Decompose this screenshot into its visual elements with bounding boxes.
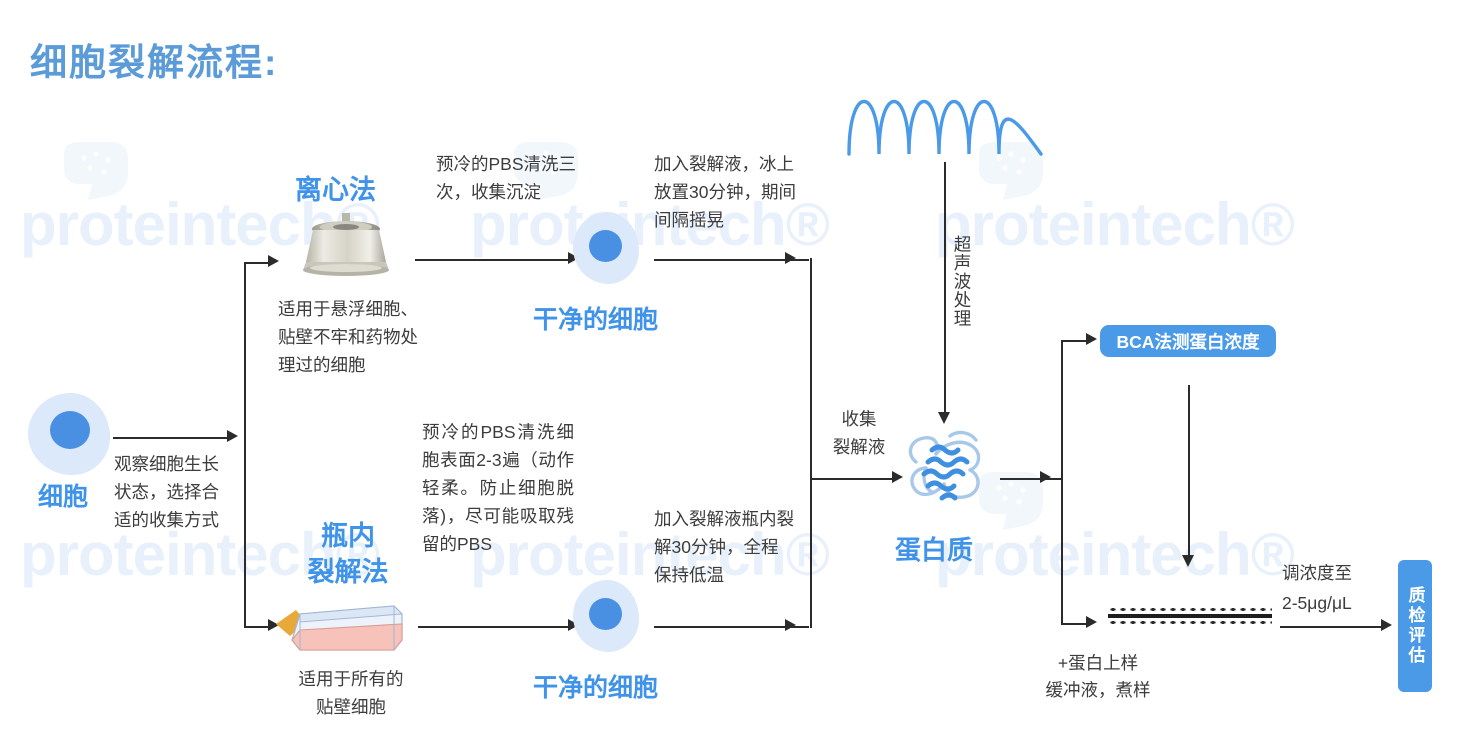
arrow-sonication — [944, 162, 946, 414]
arrow-merge-to-protein — [812, 478, 894, 480]
cell-label: 细胞 — [38, 477, 88, 513]
edge-label-centrifuge-to-clean: 预冷的PBS清洗三次，收集沉淀 — [436, 150, 586, 206]
edge-label-collect-lysate: 收集 裂解液 — [824, 405, 894, 461]
sonication-wave-icon — [845, 78, 1045, 160]
edge-label-flask-to-clean: 预冷的PBS清洗细胞表面2-3遍（动作轻柔。防止细胞脱落)，尽可能吸取残留的PB… — [422, 418, 574, 558]
collect-lysate-line1: 收集 — [824, 405, 894, 433]
sample-gel-icon — [1108, 607, 1272, 625]
arrowhead-icon — [1086, 333, 1097, 345]
sonication-label: 超声波处理 — [950, 235, 975, 365]
arrow-bca-to-gel — [1188, 385, 1190, 557]
arrow-cell-to-branch — [113, 437, 228, 439]
flask-caption: 适用于所有的 贴壁细胞 — [275, 665, 427, 721]
clean-cell-icon — [573, 212, 639, 284]
bca-assay-button[interactable]: BCA法测蛋白浓度 — [1100, 325, 1276, 357]
diagram-canvas: proteintech® proteintech® proteintech® p… — [0, 0, 1465, 750]
gel-dots-bottom — [1108, 620, 1272, 625]
adjust-conc-line2: 2-5μg/μL — [1282, 588, 1392, 618]
branch-down-stub — [244, 626, 270, 628]
branch-spine-left — [244, 262, 246, 626]
branch-up-stub-right — [1061, 340, 1089, 342]
culture-flask-icon — [274, 592, 406, 660]
gel-bar — [1108, 614, 1272, 618]
clean-cell-top-label: 干净的细胞 — [533, 300, 658, 336]
arrow-protein-to-branch — [1000, 478, 1062, 480]
flask-label-line1: 瓶内 — [298, 518, 398, 554]
gel-caption: +蛋白上样 缓冲液，煮样 — [1008, 650, 1188, 704]
flask-label-line2: 裂解法 — [298, 554, 398, 590]
arrow-centrifuge-to-clean — [415, 259, 570, 261]
arrowhead-icon — [938, 412, 950, 424]
flask-caption-line2: 贴壁细胞 — [275, 693, 427, 721]
cell-nucleus — [589, 230, 622, 262]
arrowhead-icon — [1040, 471, 1051, 483]
arrowhead-icon — [1086, 616, 1097, 628]
protein-label: 蛋白质 — [895, 530, 973, 567]
gel-dots-top — [1108, 607, 1272, 612]
centrifuge-rotor-icon — [290, 212, 402, 280]
clean-cell-bottom-label: 干净的细胞 — [533, 668, 658, 704]
watermark-superscript: ® — [1251, 191, 1294, 258]
gel-caption-line1: +蛋白上样 — [1008, 650, 1188, 677]
centrifuge-label: 离心法 — [295, 168, 376, 207]
branch-down-stub-right — [1061, 623, 1089, 625]
edge-label-clean-to-lysis-bottom: 加入裂解液瓶内裂解30分钟，全程保持低温 — [654, 505, 794, 589]
arrowhead-icon — [1182, 555, 1194, 567]
centrifuge-caption: 适用于悬浮细胞、贴壁不牢和药物处理过的细胞 — [278, 295, 426, 379]
merge-spine — [810, 258, 812, 628]
watermark-logo-icon — [58, 140, 132, 202]
adjust-conc-line1: 调浓度至 — [1282, 558, 1392, 588]
arrow-flask-to-clean — [418, 626, 570, 628]
protein-structure-icon — [898, 424, 994, 524]
branch-spine-right — [1061, 340, 1063, 623]
arrowhead-icon — [268, 255, 279, 267]
edge-label-adjust-concentration: 调浓度至 2-5μg/μL — [1282, 558, 1392, 618]
arrowhead-icon — [785, 252, 796, 264]
cell-nucleus — [50, 411, 90, 449]
clean-cell-icon — [573, 580, 639, 652]
arrowhead-icon — [785, 619, 796, 631]
edge-label-cell-to-branch: 观察细胞生长状态，选择合适的收集方式 — [114, 450, 234, 534]
arrow-gel-to-qc — [1280, 626, 1385, 628]
gel-caption-line2: 缓冲液，煮样 — [1008, 677, 1188, 704]
arrowhead-icon — [227, 430, 238, 442]
branch-up-stub — [244, 262, 270, 264]
page-title: 细胞裂解流程: — [30, 32, 278, 86]
collect-lysate-line2: 裂解液 — [824, 433, 894, 461]
qc-evaluation-button[interactable]: 质检评估 — [1398, 560, 1432, 692]
cell-icon — [28, 393, 110, 475]
flask-caption-line1: 适用于所有的 — [275, 665, 427, 693]
flask-label: 瓶内 裂解法 — [298, 518, 398, 590]
edge-label-clean-to-lysis-top: 加入裂解液，冰上放置30分钟，期间间隔摇晃 — [654, 150, 806, 234]
cell-nucleus — [589, 598, 622, 630]
arrowhead-icon — [1381, 619, 1392, 631]
